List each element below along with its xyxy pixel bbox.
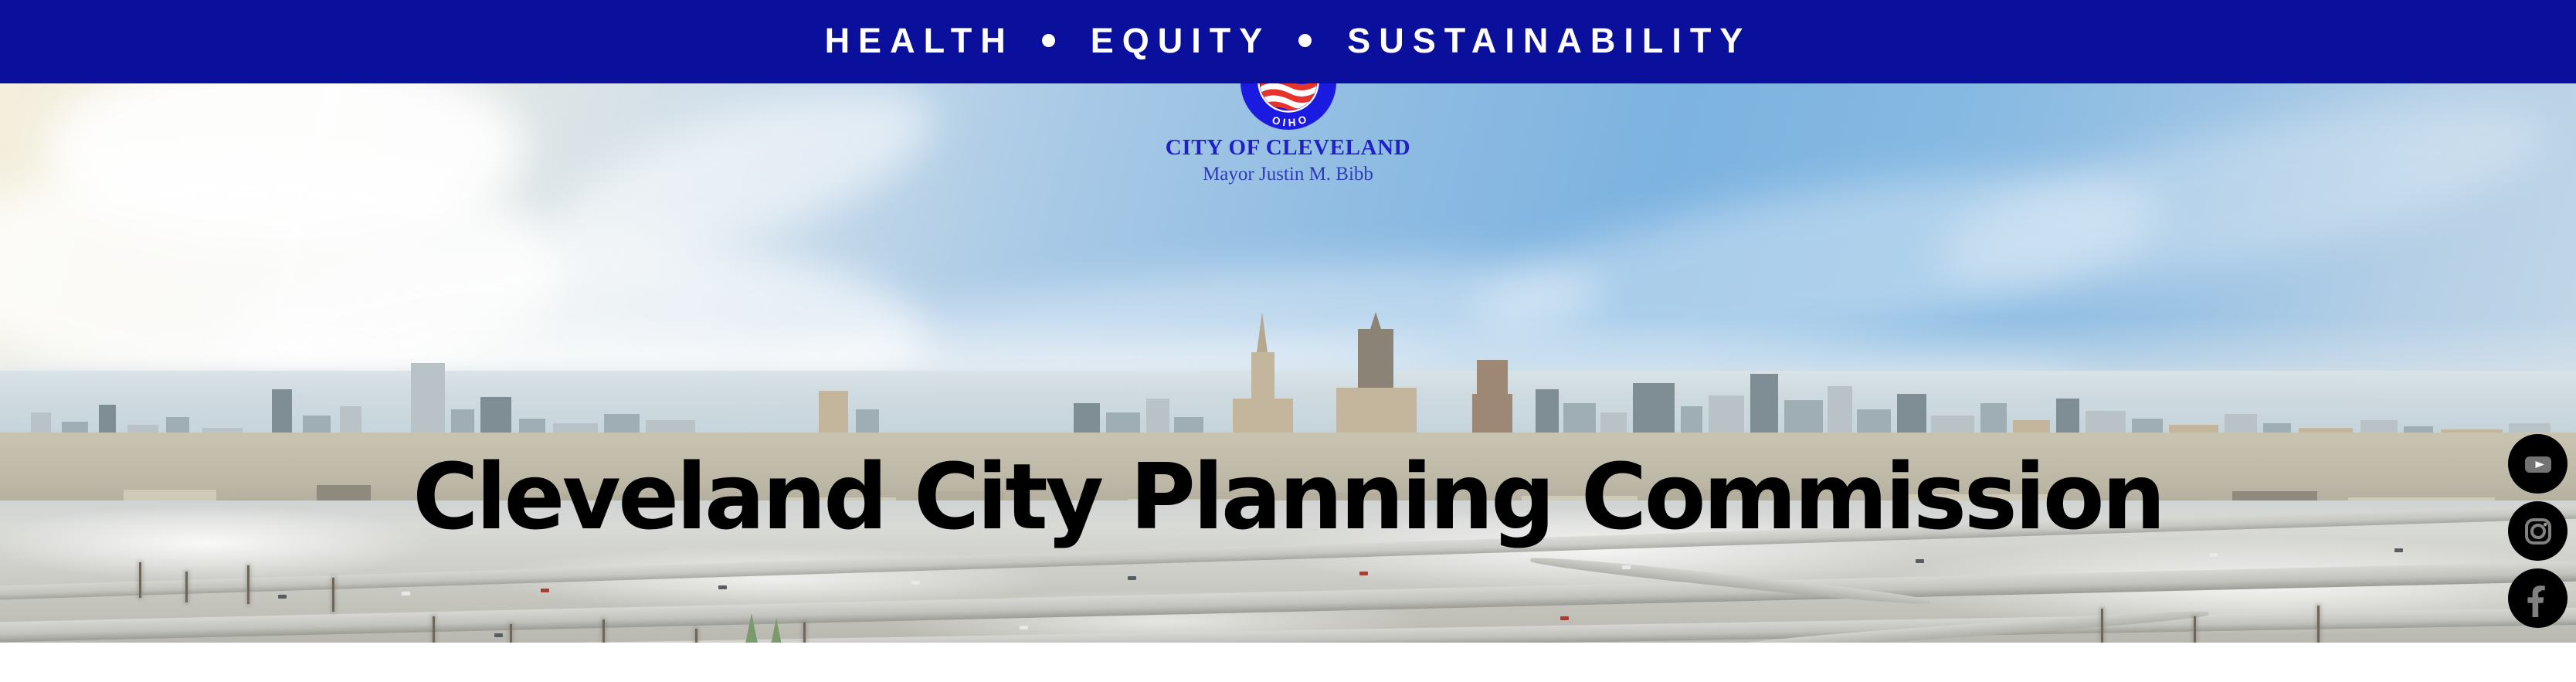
social-media-rail: [2508, 434, 2568, 628]
instagram-icon: [2520, 513, 2557, 550]
instagram-link[interactable]: [2508, 501, 2568, 561]
tagline-bullet-dot-1: [1042, 34, 1055, 47]
tagline-text-group: HEALTH EQUITY SUSTAINABILITY: [825, 23, 1752, 58]
facebook-icon: [2520, 580, 2557, 617]
tagline-word-sustainability: SUSTAINABILITY: [1347, 23, 1751, 58]
tagline-word-equity: EQUITY: [1091, 23, 1271, 58]
bottom-whitespace: [0, 643, 2576, 682]
facebook-link[interactable]: [2508, 568, 2568, 628]
youtube-link[interactable]: [2508, 434, 2568, 494]
tagline-word-health: HEALTH: [825, 23, 1014, 58]
hero-photo: [0, 83, 2576, 643]
tagline-bullet-dot-2: [1298, 34, 1312, 47]
tagline-banner: HEALTH EQUITY SUSTAINABILITY: [0, 0, 2576, 83]
youtube-icon: [2520, 446, 2557, 483]
foreground-neighborhood: [0, 500, 2576, 643]
